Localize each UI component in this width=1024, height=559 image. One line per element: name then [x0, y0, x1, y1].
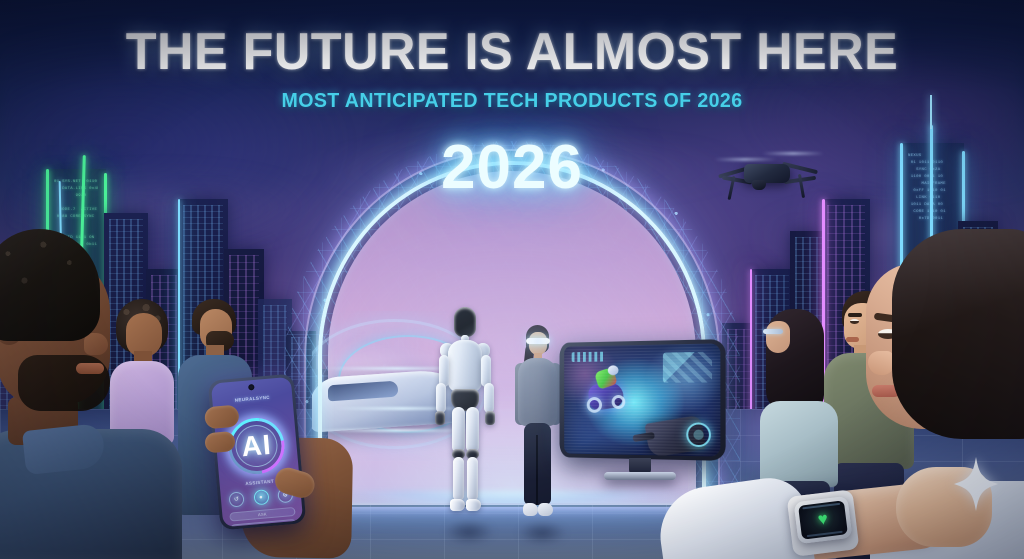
robot-shin-right: [467, 457, 478, 501]
eye: [850, 319, 859, 324]
glasses-icon: [763, 329, 783, 334]
sweater: [518, 358, 557, 426]
tv-scanlines: [564, 343, 720, 456]
heart-icon: ♥: [817, 510, 829, 528]
robot-thigh-right: [466, 407, 479, 453]
history-icon[interactable]: ↺: [228, 491, 244, 507]
hair: [0, 229, 100, 341]
robot-hand-right: [485, 411, 495, 425]
face: [766, 321, 790, 353]
page-title: THE FUTURE IS ALMOST HERE: [15, 26, 1008, 78]
curved-gaming-tv[interactable]: [556, 341, 724, 459]
tv-screen: [564, 343, 720, 456]
robot-foot-right: [466, 499, 481, 511]
mic-icon[interactable]: ●: [253, 489, 269, 505]
nose: [868, 351, 894, 375]
robot-forearm-right: [484, 383, 494, 413]
year-label: 2026: [0, 132, 1024, 203]
phone-status-text: NEURALSYNC: [212, 393, 292, 405]
tv-stand-base: [604, 472, 676, 480]
poster-canvas: 01 SYS.NET 0110 DATA.LINK 0x4F 9920 NODE…: [0, 0, 1024, 559]
sparkle-icon: [954, 457, 998, 511]
hair: [892, 229, 1024, 439]
watch-screen[interactable]: ♥: [798, 500, 848, 539]
lips: [846, 337, 859, 342]
watch-status-bar: [802, 503, 840, 510]
hair-texture: [0, 229, 100, 341]
poster-text-block: THE FUTURE IS ALMOST HERE MOST ANTICIPAT…: [0, 26, 1024, 113]
robot-torso: [448, 340, 482, 392]
robot-forearm-left: [436, 383, 446, 413]
front-camera-icon: [248, 384, 255, 391]
watch-bottom-bar: [807, 531, 843, 537]
hair-highlight: [892, 229, 1024, 439]
page-subtitle: MOST ANTICIPATED TECH PRODUCTS OF 2026: [10, 90, 1014, 113]
lips: [76, 363, 104, 374]
phone-screen[interactable]: NEURALSYNC AI ASSISTANT ↺ ● ⚙ ASK: [211, 377, 303, 527]
phone-action-rows: ASK: [229, 507, 297, 527]
ai-smartphone[interactable]: NEURALSYNC AI ASSISTANT ↺ ● ⚙ ASK: [208, 374, 307, 531]
robot-head: [454, 307, 476, 337]
humanoid-robot: [432, 307, 498, 523]
nose: [84, 333, 108, 355]
shoe-right: [538, 503, 553, 516]
robot-shin-left: [453, 457, 464, 501]
shoe-left: [523, 503, 538, 516]
ar-glasses-icon: [526, 338, 550, 344]
robot-foot-left: [450, 499, 465, 511]
health-smartwatch[interactable]: ♥: [794, 496, 853, 544]
person-left-foreground: [0, 229, 202, 559]
robot-hand-left: [435, 411, 445, 425]
robot-thigh-left: [452, 407, 465, 453]
legs-divider: [536, 435, 538, 505]
